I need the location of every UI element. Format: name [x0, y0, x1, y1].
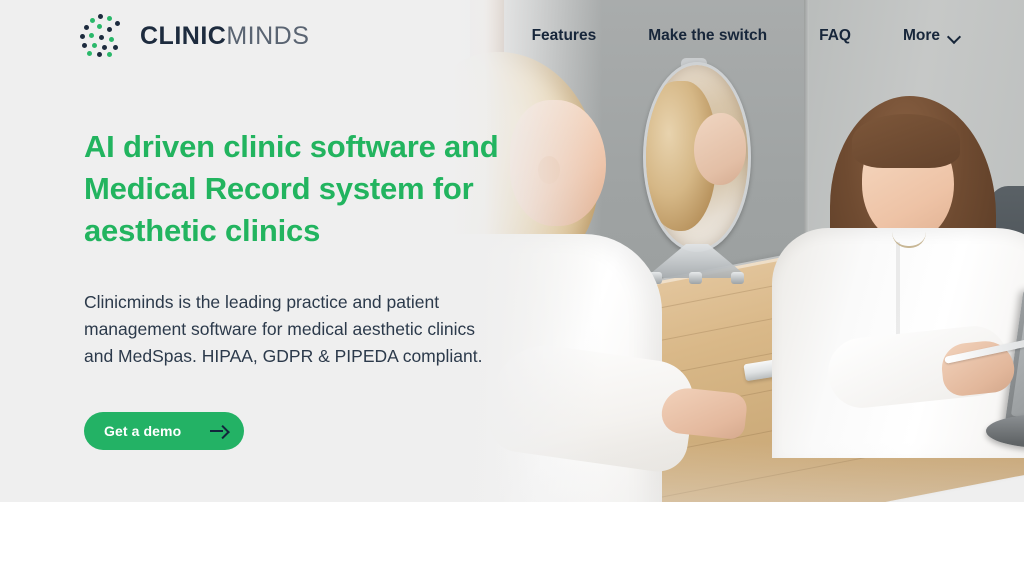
nav-label: Make the switch	[648, 27, 767, 45]
nav-label: FAQ	[819, 27, 851, 45]
nav-label: More	[903, 27, 940, 45]
hero-section: CLINICMINDS Features Make the switch FAQ…	[0, 0, 1024, 502]
brand-name-bold: CLINIC	[140, 22, 226, 50]
cta-label: Get a demo	[104, 423, 181, 439]
nav-item-features[interactable]: Features	[532, 27, 597, 45]
dotted-circle-logo-icon	[78, 12, 126, 60]
hero-image	[452, 0, 1024, 502]
hero-description: Clinicminds is the leading practice and …	[84, 289, 496, 370]
clinician-person	[818, 96, 1024, 426]
nav-item-make-the-switch[interactable]: Make the switch	[648, 27, 767, 45]
page-title: AI driven clinic software and Medical Re…	[84, 126, 504, 252]
nav-label: Features	[532, 27, 597, 45]
hero-copy: AI driven clinic software and Medical Re…	[84, 126, 504, 450]
get-a-demo-button[interactable]: Get a demo	[84, 412, 244, 450]
brand-logo[interactable]: CLINICMINDS	[78, 12, 309, 60]
arrow-right-icon	[210, 425, 227, 438]
below-fold-area	[0, 502, 1024, 576]
chevron-down-icon	[949, 31, 960, 42]
brand-wordmark: CLINICMINDS	[140, 24, 309, 49]
brand-name-light: MINDS	[226, 22, 309, 50]
main-navigation: Features Make the switch FAQ More	[532, 27, 960, 45]
landing-page: CLINICMINDS Features Make the switch FAQ…	[0, 0, 1024, 576]
nav-item-faq[interactable]: FAQ	[819, 27, 851, 45]
site-header: CLINICMINDS Features Make the switch FAQ…	[0, 0, 1024, 72]
nav-item-more[interactable]: More	[903, 27, 960, 45]
